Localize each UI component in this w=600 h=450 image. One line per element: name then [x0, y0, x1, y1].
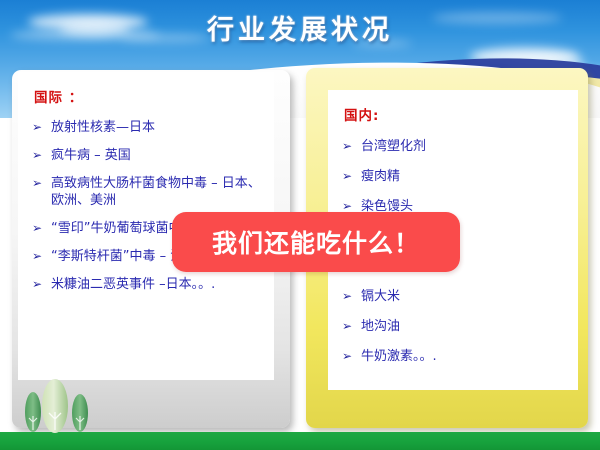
list-item-label: 瘦肉精 — [361, 168, 568, 185]
list-item-label: 高致病性大肠杆菌食物中毒 – 日本、欧洲、美洲 — [51, 175, 264, 209]
arrow-bullet-icon: ➢ — [342, 138, 361, 155]
list-item-label: 放射性核素—日本 — [51, 119, 264, 136]
arrow-bullet-icon: ➢ — [32, 248, 51, 265]
list-item: ➢ 台湾塑化剂 — [342, 138, 568, 155]
list-item-label: 牛奶激素。。. — [361, 348, 568, 365]
arrow-bullet-icon: ➢ — [32, 276, 51, 293]
list-item: ➢ 高致病性大肠杆菌食物中毒 – 日本、欧洲、美洲 — [32, 175, 264, 209]
tree-decoration-icon — [18, 378, 108, 436]
slide-title: 行业发展状况 — [0, 8, 600, 47]
list-item: ➢ 地沟油 — [342, 318, 568, 335]
arrow-bullet-icon: ➢ — [32, 147, 51, 164]
list-item: ➢ 米糠油二恶英事件 –日本。。. — [32, 276, 264, 293]
list-item-label: 地沟油 — [361, 318, 568, 335]
list-item: ➢ 牛奶激素。。. — [342, 348, 568, 365]
arrow-bullet-icon: ➢ — [342, 318, 361, 335]
slide-canvas: 行业发展状况 国际 ： ➢ 放射性核素—日本 ➢ 疯牛病 – 英国 ➢ 高致病性… — [0, 0, 600, 450]
list-item: ➢ 放射性核素—日本 — [32, 119, 264, 136]
list-item-label: 疯牛病 – 英国 — [51, 147, 264, 164]
arrow-bullet-icon: ➢ — [32, 175, 51, 192]
arrow-bullet-icon: ➢ — [342, 288, 361, 305]
list-item: ➢ 镉大米 — [342, 288, 568, 305]
list-item-label: 镉大米 — [361, 288, 568, 305]
arrow-bullet-icon: ➢ — [32, 220, 51, 237]
list-item: ➢ 瘦肉精 — [342, 168, 568, 185]
arrow-bullet-icon: ➢ — [32, 119, 51, 136]
domestic-heading: 国内: — [344, 104, 568, 124]
list-item-label: 台湾塑化剂 — [361, 138, 568, 155]
arrow-bullet-icon: ➢ — [342, 168, 361, 185]
international-heading: 国际 ： — [34, 86, 264, 106]
callout-banner: 我们还能吃什么！ — [172, 212, 460, 272]
list-item-label: 米糠油二恶英事件 –日本。。. — [51, 276, 264, 293]
arrow-bullet-icon: ➢ — [342, 348, 361, 365]
callout-banner-text: 我们还能吃什么！ — [212, 224, 420, 260]
list-item: ➢ 疯牛病 – 英国 — [32, 147, 264, 164]
